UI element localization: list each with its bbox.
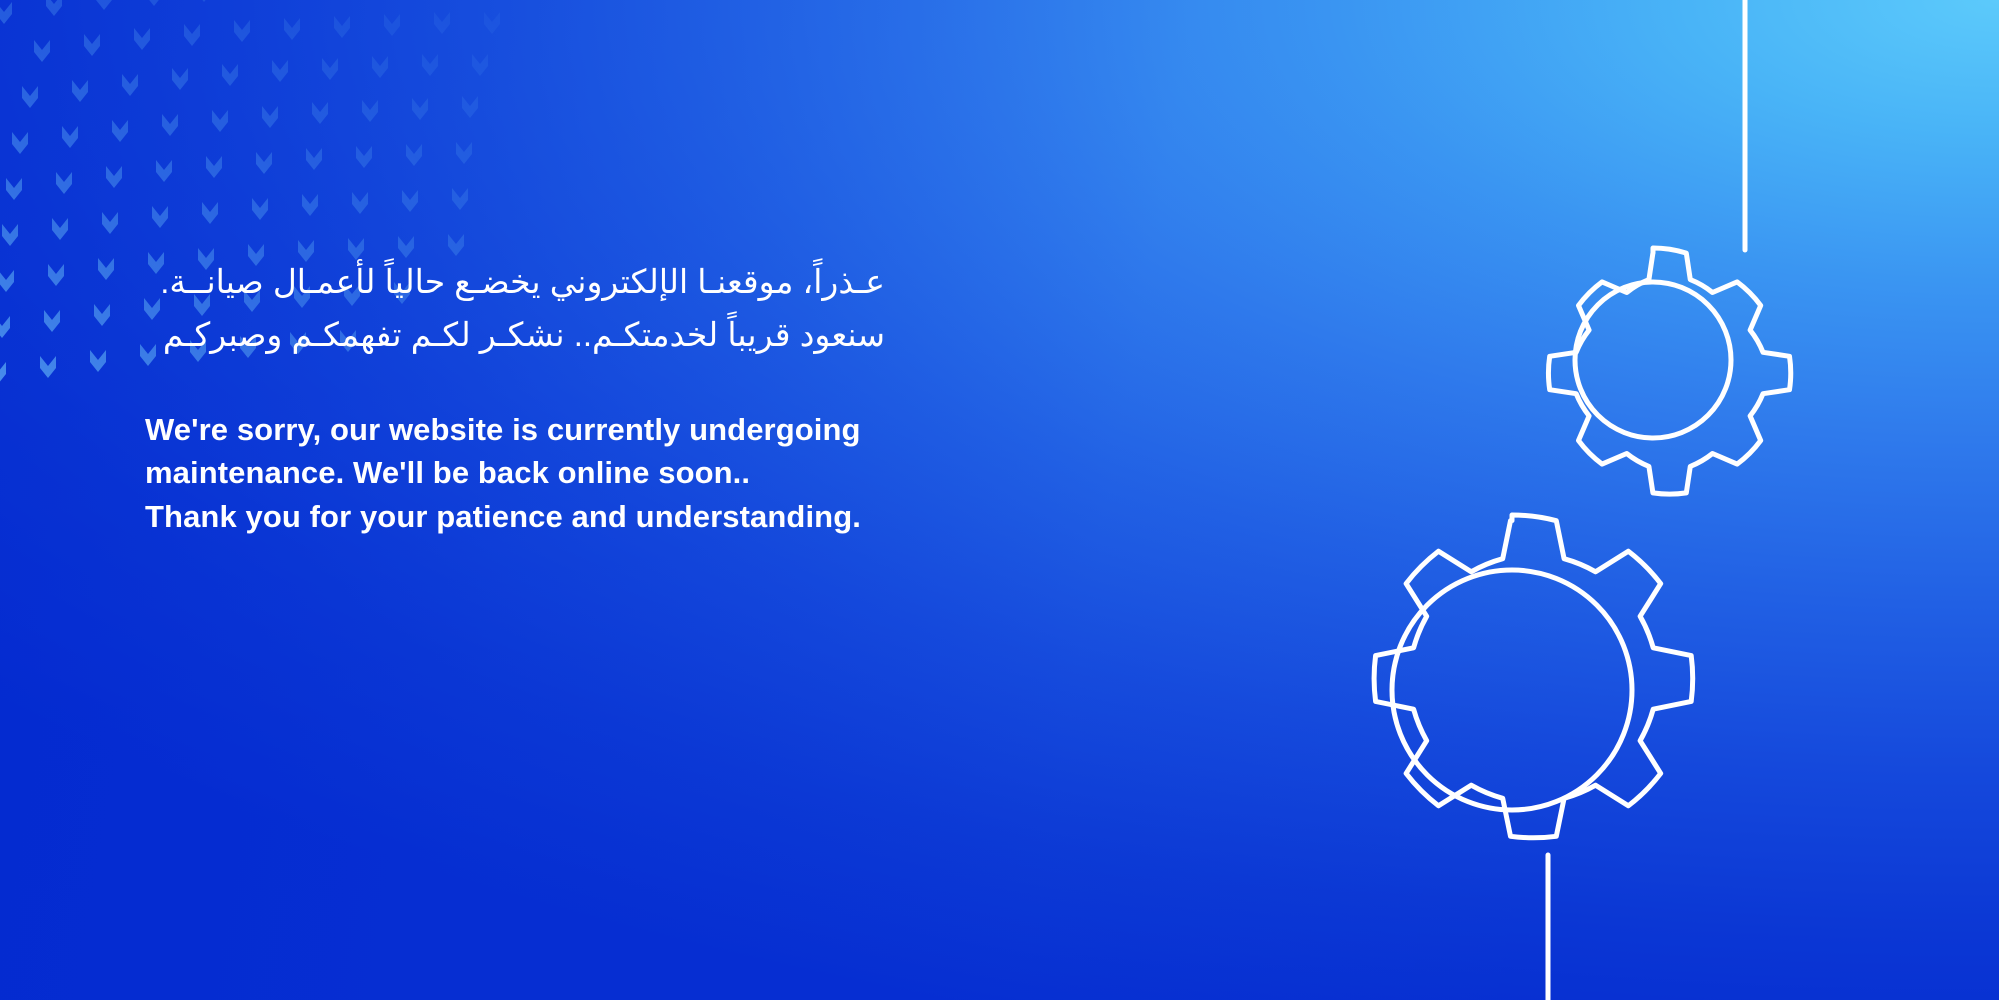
english-message: We're sorry, our website is currently un… — [145, 408, 1005, 538]
arabic-message: عـذراً، موقعنـا الإلكتروني يخضـع حالياً … — [145, 255, 885, 362]
message-content: عـذراً، موقعنـا الإلكتروني يخضـع حالياً … — [145, 255, 1005, 538]
english-message-line-2: maintenance. We'll be back online soon.. — [145, 451, 1005, 494]
maintenance-page: عـذراً، موقعنـا الإلكتروني يخضـع حالياً … — [0, 0, 1999, 1000]
arabic-message-line-2: سنعود قريباً لخدمتكـم.. نشكـر لكـم تفهمك… — [145, 308, 885, 361]
english-message-line-3: Thank you for your patience and understa… — [145, 495, 1005, 538]
arabic-message-line-1: عـذراً، موقعنـا الإلكتروني يخضـع حالياً … — [145, 255, 885, 308]
english-message-line-1: We're sorry, our website is currently un… — [145, 408, 1005, 451]
